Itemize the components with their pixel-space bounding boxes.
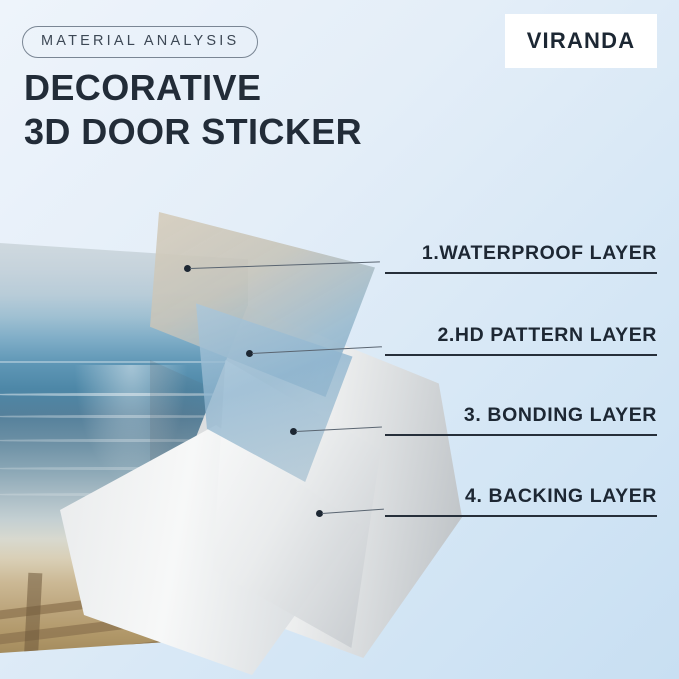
- callout-label-4: 4. BACKING LAYER: [465, 485, 657, 507]
- callout-bonding-layer: 3. BONDING LAYER: [385, 404, 657, 436]
- poster: MATERIAL ANALYSIS VIRANDA DECORATIVE 3D …: [0, 0, 679, 679]
- callout-hd-pattern-layer: 2.HD PATTERN LAYER: [385, 324, 657, 356]
- callout-label-1: 1.WATERPROOF LAYER: [422, 242, 657, 264]
- page-title: DECORATIVE 3D DOOR STICKER: [24, 66, 362, 154]
- eyebrow-badge: MATERIAL ANALYSIS: [22, 26, 258, 58]
- callout-rule-3: [385, 434, 657, 436]
- callout-label-3: 3. BONDING LAYER: [464, 404, 657, 426]
- callout-rule-1: [385, 272, 657, 274]
- callout-waterproof-layer: 1.WATERPROOF LAYER: [385, 242, 657, 274]
- page-title-line-1: DECORATIVE: [24, 67, 261, 108]
- brand-name: VIRANDA: [527, 28, 636, 54]
- callout-label-2: 2.HD PATTERN LAYER: [437, 324, 657, 346]
- brand-logo-box: VIRANDA: [505, 14, 657, 68]
- callout-rule-2: [385, 354, 657, 356]
- callout-rule-4: [385, 515, 657, 517]
- callout-backing-layer: 4. BACKING LAYER: [385, 485, 657, 517]
- boardwalk-rail: [24, 573, 43, 664]
- product-illustration: [0, 210, 679, 679]
- page-title-line-2: 3D DOOR STICKER: [24, 110, 362, 154]
